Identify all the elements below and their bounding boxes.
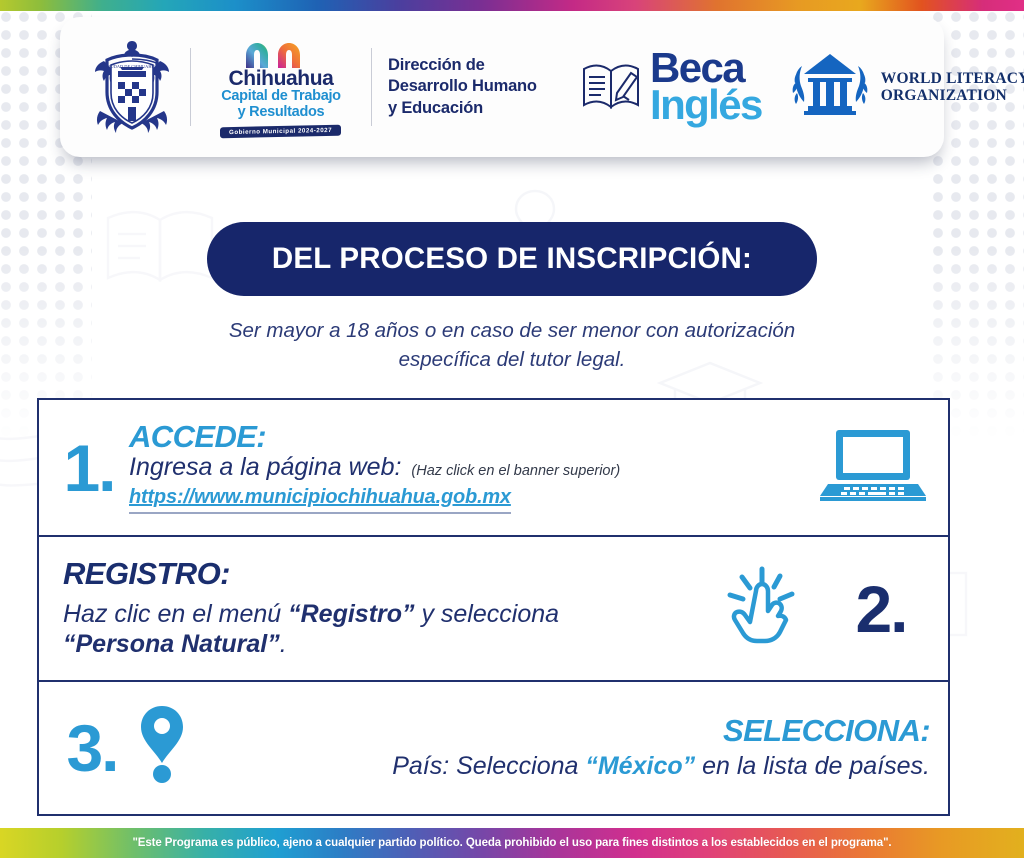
step-2-body-d: “Persona Natural” bbox=[63, 630, 280, 658]
chihuahua-name: Chihuahua bbox=[207, 68, 355, 89]
step-1-accede: 1. ACCEDE: Ingresa a la página web: (Haz… bbox=[39, 400, 948, 535]
wlo-line1: WORLD LITERACY bbox=[881, 70, 1024, 87]
beca-ingles-logo: Beca Inglés bbox=[580, 50, 762, 124]
step-3-body: País: Selecciona “México” en la lista de… bbox=[193, 752, 930, 782]
step-2-body-line1: Haz clic en el menú “Registro” y selecci… bbox=[63, 600, 708, 630]
step-1-text: ACCEDE: Ingresa a la página web: (Haz cl… bbox=[125, 421, 798, 514]
svg-text:CIUDAD DE CHIHUAHUA: CIUDAD DE CHIHUAHUA bbox=[106, 64, 159, 69]
step-3-selecciona: 3. SELECCIONA: País: Selecciona “México”… bbox=[39, 680, 948, 814]
step-2-icon-cell bbox=[708, 561, 828, 656]
step-1-url-link[interactable]: https://www.municipiochihuahua.gob.mx bbox=[129, 486, 511, 514]
step-1-number-cell: 1. bbox=[39, 435, 125, 501]
header-logo-card: CIUDAD DE CHIHUAHUA bbox=[60, 17, 944, 157]
chihuahua-shield-icon: CIUDAD DE CHIHUAHUA bbox=[90, 35, 174, 139]
step-3-text: SELECCIONA: País: Selecciona “México” en… bbox=[193, 715, 948, 782]
step-2-body-c: y selecciona bbox=[415, 600, 560, 628]
chihuahua-sub-line1: Capital de Trabajo bbox=[207, 89, 355, 104]
infographic-page: CIUDAD DE CHIHUAHUA bbox=[0, 0, 1024, 858]
step-2-text: REGISTRO: Haz clic en el menú “Registro”… bbox=[39, 558, 708, 659]
footer-disclaimer-bar: "Este Programa es público, ajeno a cualq… bbox=[0, 828, 1024, 858]
step-2-body-line2: “Persona Natural”. bbox=[63, 630, 708, 660]
step-1-hint: (Haz click en el banner superior) bbox=[411, 463, 620, 479]
top-rainbow-bar bbox=[0, 0, 1024, 11]
step-2-body-a: Haz clic en el menú bbox=[63, 600, 288, 628]
laurel-building-icon bbox=[788, 48, 872, 127]
world-literacy-organization-logo: WORLD LITERACY ORGANIZATION bbox=[788, 48, 1024, 127]
direccion-block: Dirección de Desarrollo Humano y Educaci… bbox=[388, 55, 558, 118]
header-divider-2 bbox=[371, 48, 372, 126]
direccion-line3: y Educación bbox=[388, 98, 558, 119]
step-1-body: Ingresa a la página web: bbox=[129, 453, 401, 483]
chihuahua-sub-line2: y Resultados bbox=[207, 105, 355, 120]
direccion-line2: Desarrollo Humano bbox=[388, 76, 558, 97]
step-1-kicker: ACCEDE: bbox=[129, 421, 798, 452]
step-3-number: 3. bbox=[66, 711, 117, 785]
step-3-icon-cell bbox=[131, 704, 193, 793]
section-title-pill: DEL PROCESO DE INSCRIPCIÓN: bbox=[207, 222, 817, 296]
step-3-kicker: SELECCIONA: bbox=[193, 715, 930, 746]
direccion-line1: Dirección de bbox=[388, 55, 558, 76]
step-3-body-b: “México” bbox=[585, 752, 695, 780]
footer-disclaimer-text: "Este Programa es público, ajeno a cualq… bbox=[132, 837, 891, 849]
laptop-icon bbox=[820, 426, 926, 509]
header-divider-1 bbox=[190, 48, 191, 126]
step-3-number-cell: 3. bbox=[39, 715, 131, 781]
chihuahua-tagline: Gobierno Municipal 2024-2027 bbox=[220, 124, 341, 138]
chihuahua-arcs-icon bbox=[207, 36, 355, 70]
step-3-body-a: País: Selecciona bbox=[392, 752, 585, 780]
steps-container: 1. ACCEDE: Ingresa a la página web: (Haz… bbox=[37, 398, 950, 816]
step-2-number: 2. bbox=[855, 572, 906, 646]
step-3-body-c: en la lista de países. bbox=[695, 752, 930, 780]
subtitle-line2: específica del tutor legal. bbox=[0, 345, 1024, 374]
ingles-word: Inglés bbox=[650, 87, 762, 124]
step-1-number: 1. bbox=[63, 431, 114, 505]
step-2-body-e: . bbox=[280, 630, 287, 658]
subtitle-block: Ser mayor a 18 años o en caso de ser men… bbox=[0, 316, 1024, 374]
book-watermark-icon bbox=[100, 200, 220, 290]
page-title: DEL PROCESO DE INSCRIPCIÓN: bbox=[272, 242, 752, 276]
step-1-icon-cell bbox=[798, 426, 948, 509]
step-2-kicker: REGISTRO: bbox=[63, 558, 708, 589]
step-2-body-b: “Registro” bbox=[288, 600, 414, 628]
book-pencil-icon bbox=[580, 55, 642, 120]
click-hand-icon bbox=[720, 561, 816, 656]
wlo-line2: ORGANIZATION bbox=[881, 87, 1024, 104]
subtitle-line1: Ser mayor a 18 años o en caso de ser men… bbox=[0, 316, 1024, 345]
step-2-registro: REGISTRO: Haz clic en el menú “Registro”… bbox=[39, 535, 948, 680]
step-2-number-cell: 2. bbox=[828, 576, 948, 642]
map-pin-icon bbox=[137, 704, 187, 793]
chihuahua-brand-logo: Chihuahua Capital de Trabajo y Resultado… bbox=[207, 36, 355, 137]
